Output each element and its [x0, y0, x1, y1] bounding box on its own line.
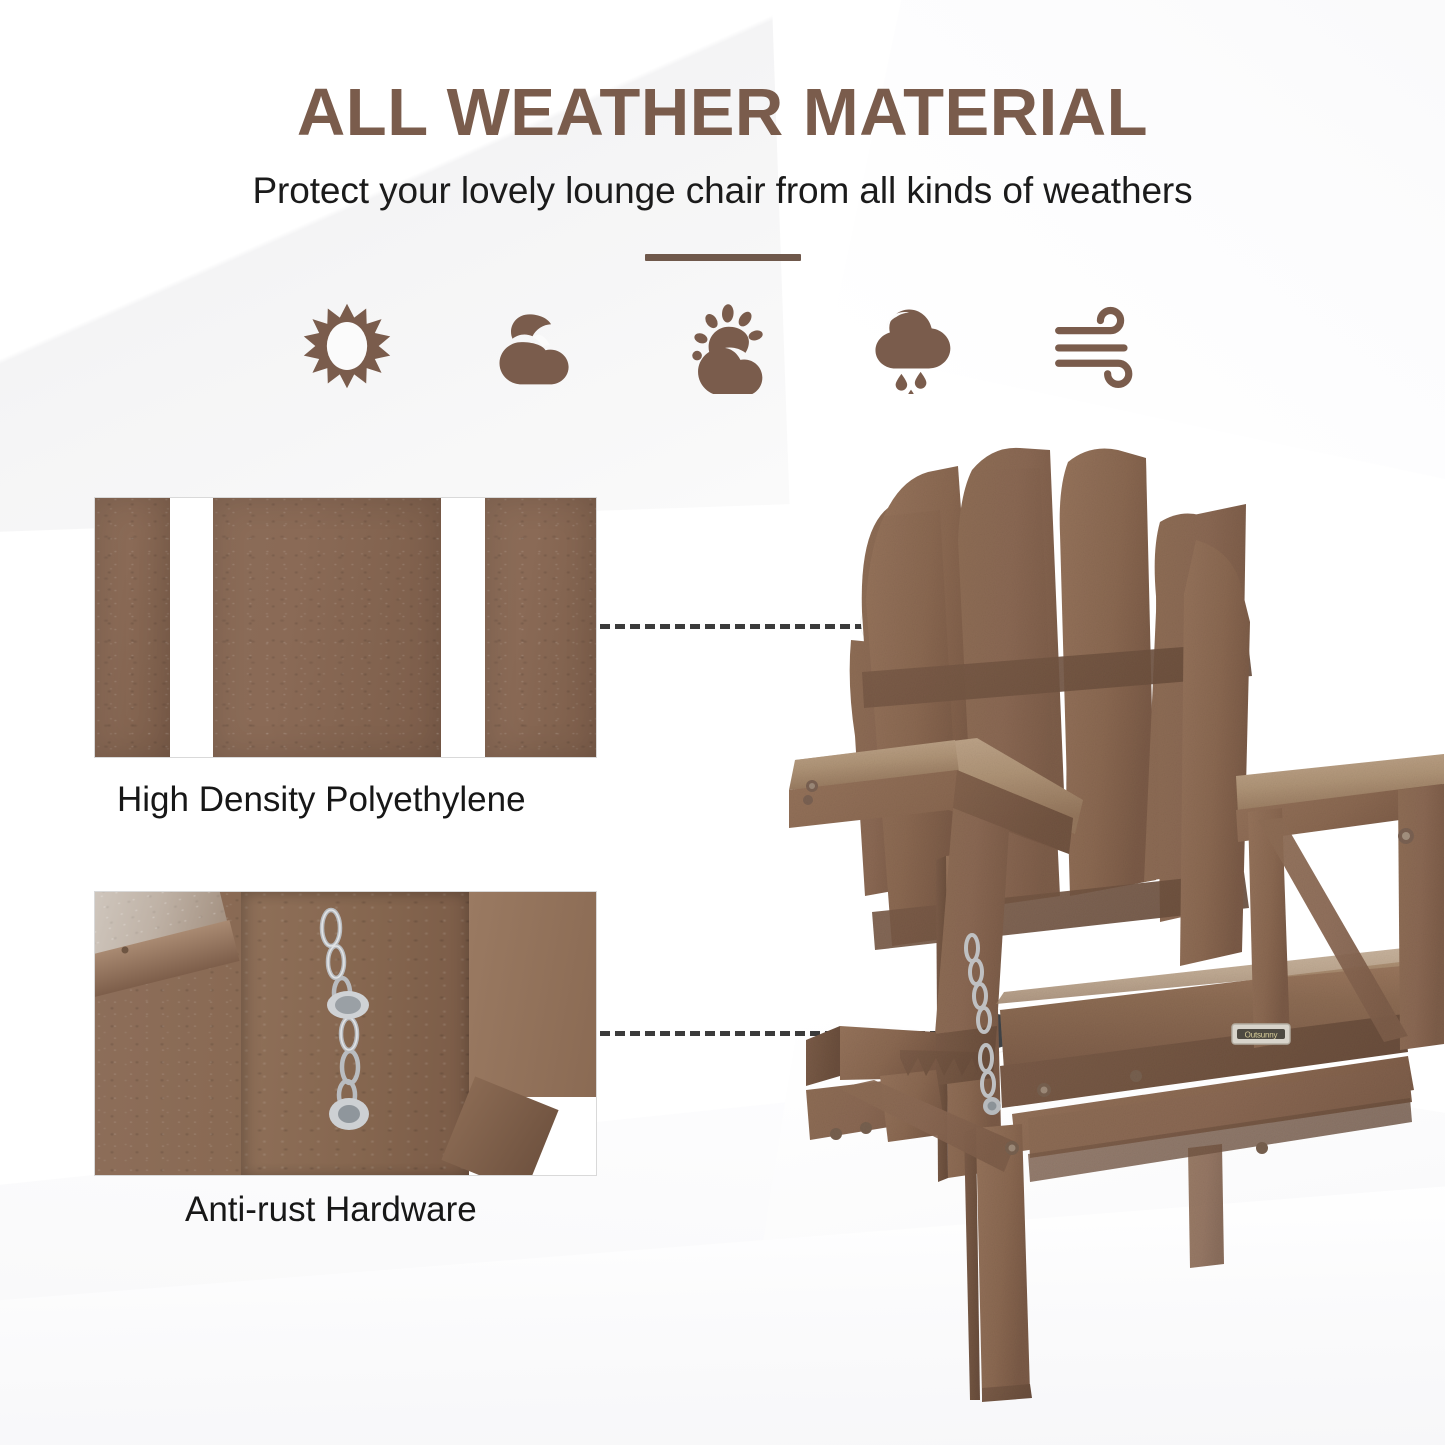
- svg-text:Outsunny: Outsunny: [1245, 1031, 1278, 1040]
- marketing-image-canvas: ALL WEATHER MATERIAL Protect your lovely…: [0, 0, 1445, 1445]
- brand-label-plate: Outsunny: [1232, 1024, 1290, 1044]
- product-photo-adirondack-chair: Outsunny: [0, 0, 1445, 1445]
